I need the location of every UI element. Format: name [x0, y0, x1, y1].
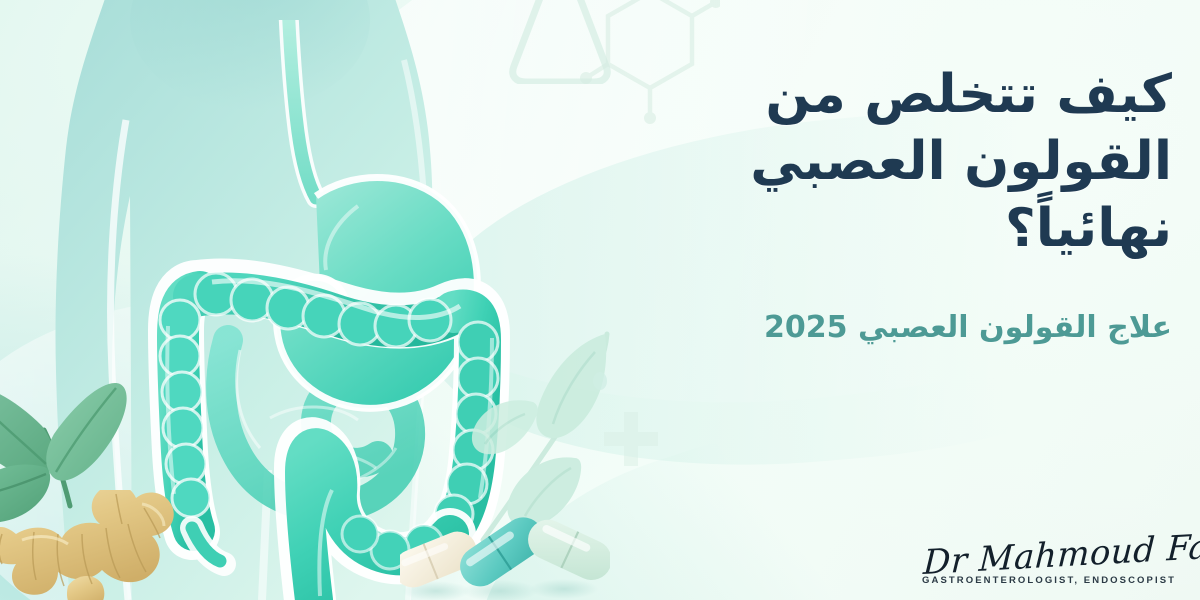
medical-cross-icon: [600, 408, 662, 470]
text-block: كيف تتخلص من القولون العصبي نهائياً؟ علا…: [612, 62, 1172, 347]
page-title: كيف تتخلص من القولون العصبي نهائياً؟: [612, 62, 1172, 262]
signature-name: Dr Mahmoud Farouk: [922, 532, 1175, 580]
ginger-root: [0, 490, 202, 600]
organ-esophagus: [288, 20, 316, 198]
decorative-dot: [593, 372, 607, 390]
doctor-signature: Dr Mahmoud Farouk GASTROENTEROLOGIST, EN…: [922, 532, 1174, 586]
promo-banner: كيف تتخلص من القولون العصبي نهائياً؟ علا…: [0, 0, 1200, 600]
subtitle: علاج القولون العصبي 2025: [612, 308, 1172, 347]
capsule-group: [400, 495, 610, 600]
